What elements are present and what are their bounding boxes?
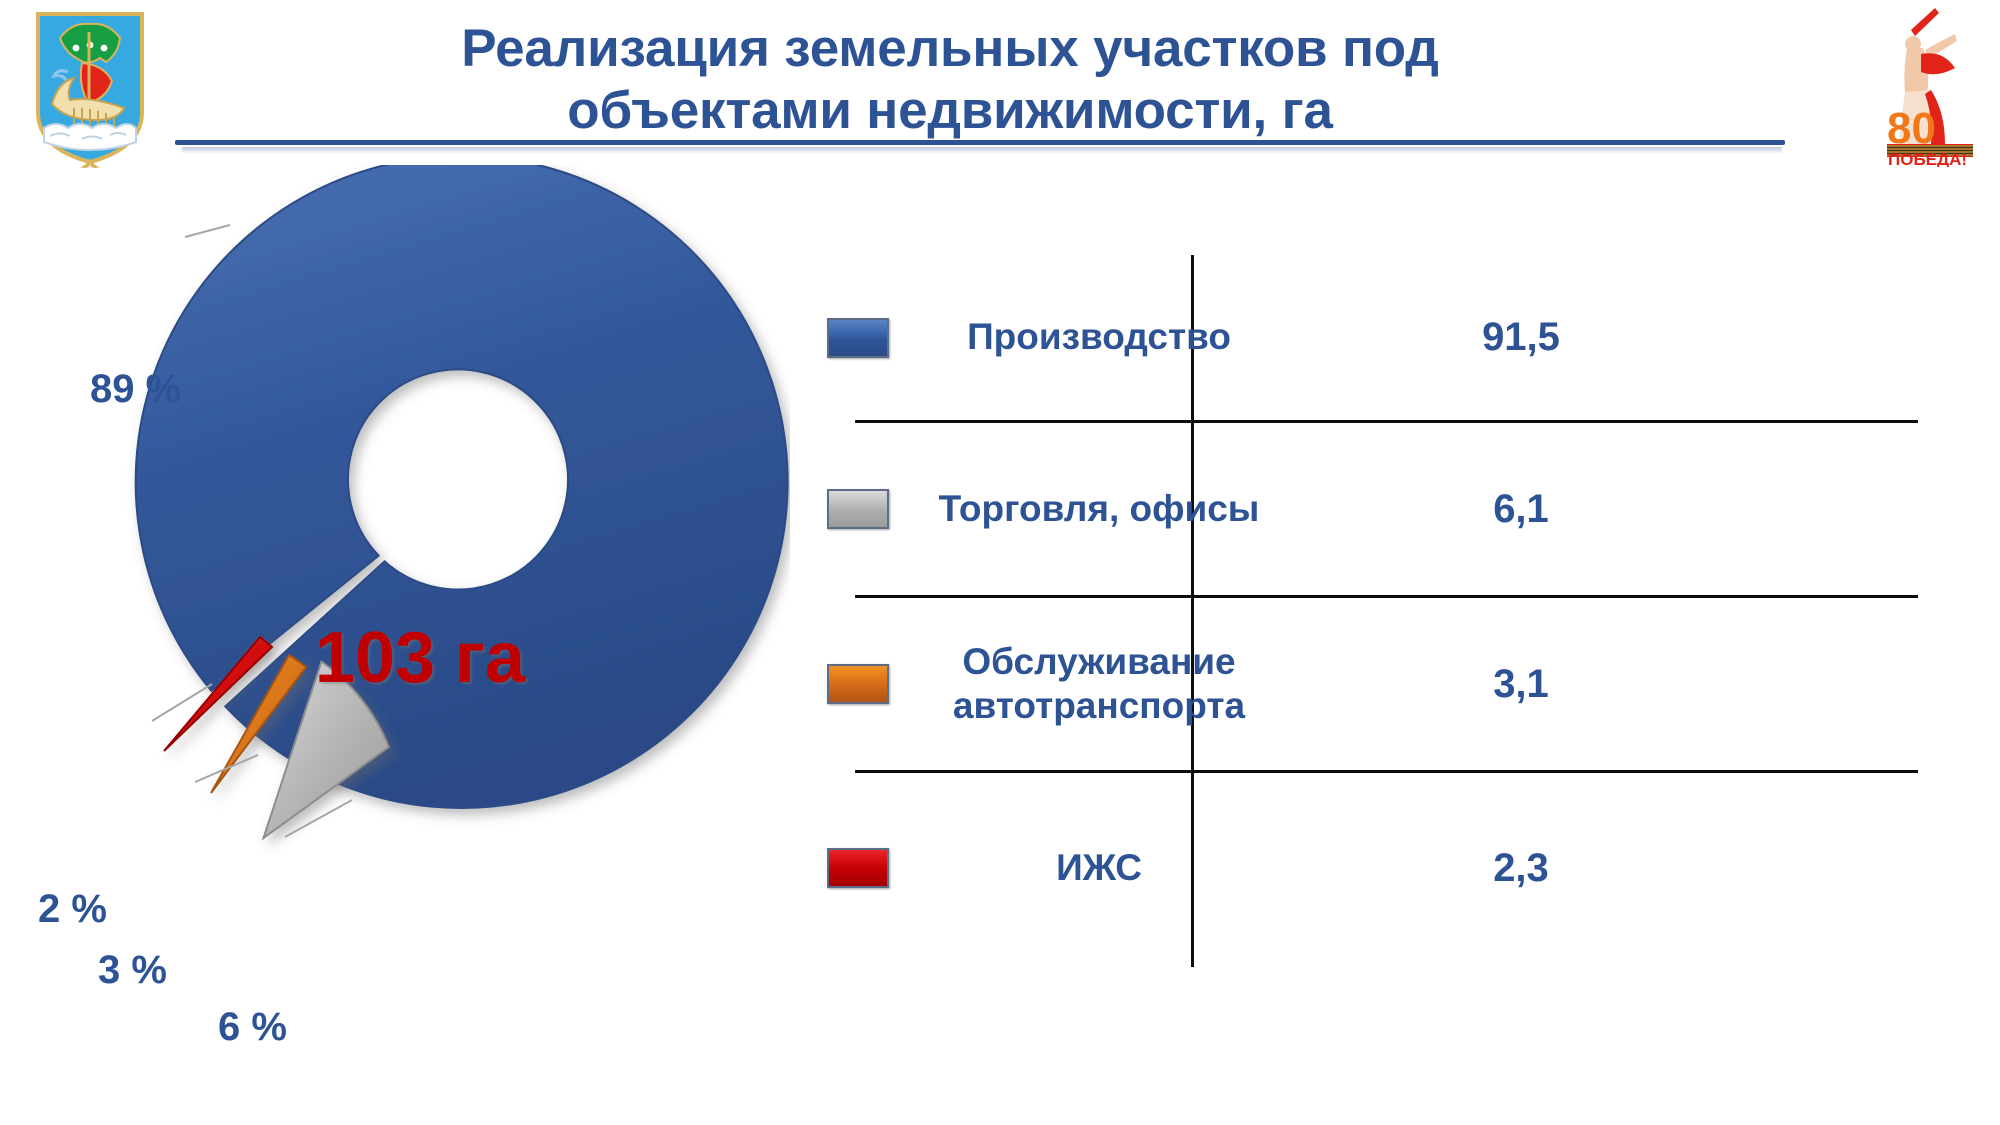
blue-swatch-icon <box>827 318 889 358</box>
pie-percent-label-vehicle-service: 3 % <box>98 948 167 993</box>
legend-value-production: 91,5 <box>1371 315 1671 360</box>
legend-value-trade-offices: 6,1 <box>1371 487 1671 532</box>
svg-text:ПОБЕДА!: ПОБЕДА! <box>1888 150 1967 167</box>
legend-value-vehicle-service: 3,1 <box>1371 662 1671 707</box>
title-divider-shadow <box>182 147 1782 154</box>
table-row[interactable]: ИЖС 2,3 <box>765 773 1945 963</box>
svg-text:80: 80 <box>1887 104 1936 153</box>
legend-value-izhs: 2,3 <box>1371 846 1671 891</box>
legend-label-trade-offices: Торговля, офисы <box>927 487 1271 531</box>
slide-canvas: Реализация земельных участков под объект… <box>0 0 2000 1125</box>
donut-center-total: 103 га <box>160 617 680 699</box>
title-divider <box>175 140 1785 145</box>
coat-of-arms-icon <box>30 8 150 168</box>
donut-chart: 89 % 2 % 3 % 6 % 103 га <box>0 165 790 1125</box>
legend-label-izhs: ИЖС <box>927 846 1271 890</box>
pie-percent-label-trade-offices: 6 % <box>218 1005 287 1050</box>
orange-swatch-icon <box>827 664 889 704</box>
leader-line-3 <box>195 755 258 782</box>
pie-slice-production <box>136 165 788 808</box>
red-swatch-icon <box>827 848 889 888</box>
table-row[interactable]: Торговля, офисы 6,1 <box>765 423 1945 595</box>
legend-table: Производство 91,5 Торговля, офисы 6,1 Об… <box>855 200 1945 970</box>
legend-label-vehicle-service: Обслуживание автотранспорта <box>927 640 1271 729</box>
table-row[interactable]: Обслуживание автотранспорта 3,1 <box>765 598 1945 770</box>
page-title: Реализация земельных участков под объект… <box>330 18 1570 142</box>
legend-label-production: Производство <box>927 315 1271 359</box>
table-row[interactable]: Производство 91,5 <box>765 255 1945 420</box>
title-line-2: объектами недвижимости, га <box>330 80 1570 142</box>
gray-swatch-icon <box>827 489 889 529</box>
pie-percent-label-izhs: 2 % <box>38 887 107 932</box>
legend-label-line-2: автотранспорта <box>953 685 1245 726</box>
title-line-1: Реализация земельных участков под <box>330 18 1570 80</box>
legend-label-line-1: Обслуживание <box>962 641 1235 682</box>
pie-percent-label-production: 89 % <box>90 367 181 412</box>
victory-80-logo-icon: 80 ПОБЕДА! <box>1843 2 1978 167</box>
leader-line-89 <box>185 225 230 237</box>
